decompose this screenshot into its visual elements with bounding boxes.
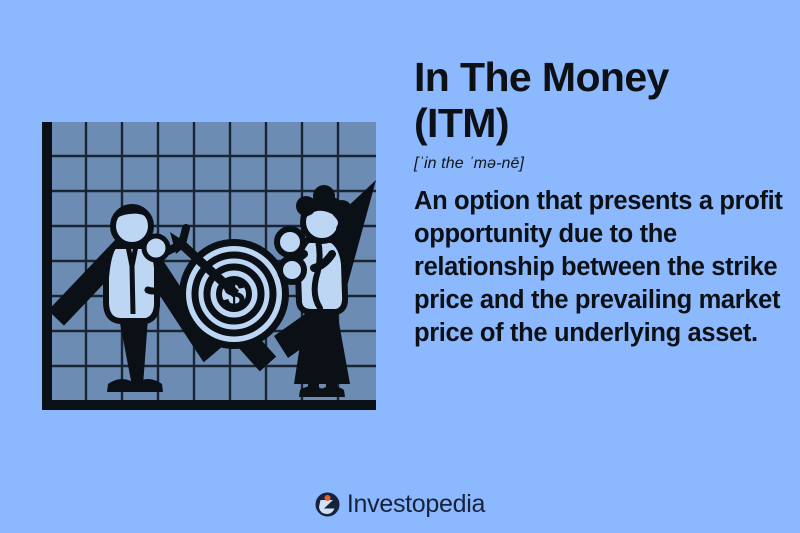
definition-text: An option that presents a profit opportu… [414, 185, 792, 351]
title-line-1: In The Money [414, 54, 669, 100]
investopedia-logo-icon [315, 492, 340, 517]
x-axis [42, 400, 376, 410]
infographic-card: $ [0, 0, 800, 533]
illustration: $ [36, 118, 384, 420]
title-line-2: (ITM) [414, 100, 509, 146]
page-title: In The Money (ITM) [414, 55, 792, 147]
brand-logo: Investopedia [0, 492, 800, 517]
definition-block: In The Money (ITM) [ˈin the ˈmə-nē] An o… [414, 55, 792, 351]
y-axis [42, 122, 52, 410]
pronunciation-text: [ˈin the ˈmə-nē] [414, 155, 792, 173]
investopedia-wordmark: Investopedia [347, 492, 485, 517]
